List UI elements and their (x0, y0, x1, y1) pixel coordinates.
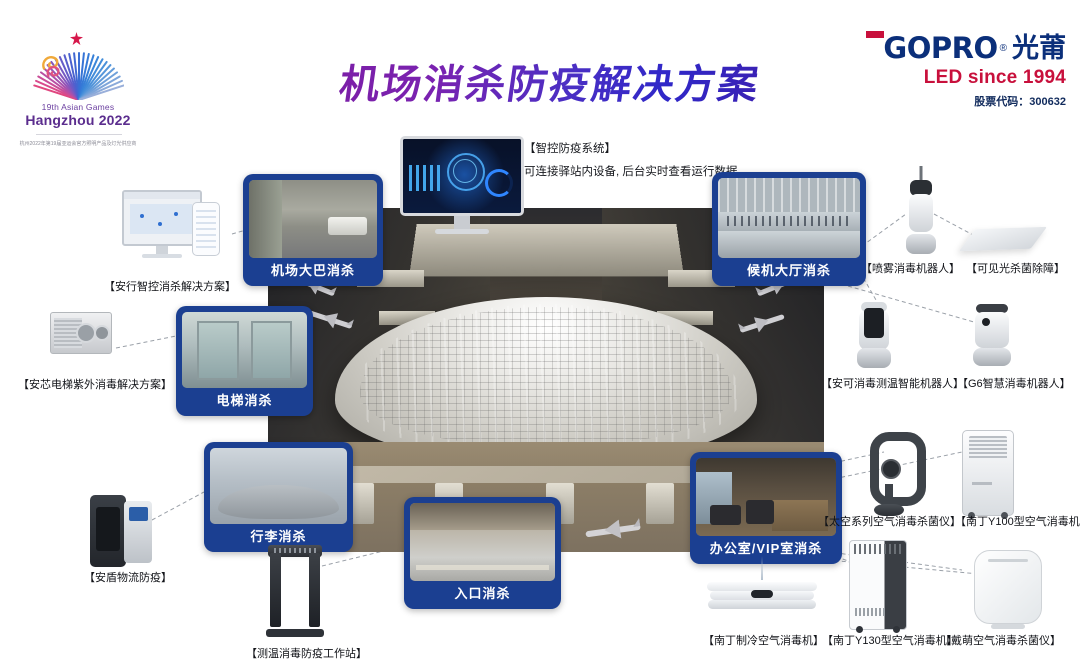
card-thumb-baggage (210, 448, 347, 524)
spray-robot-body (904, 176, 938, 254)
card-label-entrance: 入口消杀 (410, 581, 555, 607)
device-temp-station (268, 545, 322, 637)
page-title: 机场消杀防疫解决方案 (300, 52, 800, 110)
card-entrance[interactable]: 入口消杀 (404, 497, 561, 609)
star-icon (70, 32, 83, 45)
device-label-nanding-y130: 【南丁Y130型空气消毒机】 (822, 632, 958, 648)
brand-tagline: LED since 1994 (866, 67, 1066, 89)
brand-stock-code: 股票代码：300632 (866, 93, 1066, 109)
asian-games-fine-print: 杭州2022年第19届亚运会官方照明产品及灯光供应商 (14, 141, 142, 148)
device-g6-robot (972, 304, 1012, 366)
anke-robot-body (856, 302, 892, 368)
device-daimeng-purifier (974, 550, 1042, 624)
card-waiting-hall[interactable]: 候机大厅消杀 (712, 172, 866, 286)
card-thumb-airport-bus (249, 180, 377, 258)
brand-block: GOPRO ® 光莆 LED since 1994 股票代码：300632 (866, 34, 1066, 109)
device-andun-logistics (90, 495, 152, 567)
card-office-vip[interactable]: 办公室/VIP室消杀 (690, 452, 842, 564)
cooling-air-disinfector (707, 578, 817, 612)
console-phone (192, 202, 220, 256)
console-monitor (122, 190, 202, 246)
device-label-temp-station: 【测温消毒防疫工作站】 (246, 645, 367, 661)
swirl-emblem (38, 52, 68, 82)
card-thumb-elevator (182, 312, 307, 388)
device-anxing-console (122, 190, 202, 246)
device-space-series (868, 432, 910, 516)
device-label-andun-logistics: 【安盾物流防疫】 (84, 569, 172, 585)
device-label-nanding-y100: 【南丁Y100型空气消毒机】 (955, 513, 1080, 529)
device-label-spray-robot: 【喷雾消毒机器人】 (861, 260, 960, 276)
card-thumb-waiting-hall (718, 178, 860, 258)
dashboard-screen (400, 136, 524, 216)
device-label-daimeng-purifier: 【戴萌空气消毒杀菌仪】 (940, 632, 1061, 648)
device-nanding-y100 (962, 430, 1014, 516)
device-label-anke-temp-robot: 【安可消毒测温智能机器人】 (821, 375, 964, 391)
asian-games-line1: 19th Asian Games (14, 102, 142, 112)
divider (36, 134, 122, 135)
air-disinfector-y130 (849, 540, 907, 630)
temperature-screening-gate (268, 545, 322, 637)
wall-air-purifier (974, 550, 1042, 624)
brand-name: GOPRO (883, 34, 997, 63)
device-label-visible-light-uv: 【可见光杀菌除障】 (966, 260, 1065, 276)
card-thumb-office-vip (696, 458, 836, 536)
logistics-disinfect-cabinet (90, 495, 152, 567)
asian-games-logo: 19th Asian Games Hangzhou 2022 杭州2022年第1… (14, 28, 142, 160)
brand-name-cn: 光莆 (1012, 35, 1066, 62)
card-thumb-entrance (410, 503, 555, 581)
page-title-text: 机场消杀防疫解决方案 (336, 52, 764, 110)
device-label-space-series: 【太空系列空气消毒杀菌仪】 (818, 513, 961, 529)
system-note-desc: 可连接驿站内设备, 后台实时查看运行数据 (524, 163, 737, 179)
g6-robot-body (972, 304, 1012, 366)
device-spray-robot (904, 176, 938, 254)
device-nanding-y130 (849, 540, 907, 630)
card-airport-bus[interactable]: 机场大巴消杀 (243, 174, 383, 286)
device-label-g6-robot: 【G6智慧消毒机器人】 (957, 375, 1071, 391)
device-visible-light-uv (968, 228, 1038, 250)
card-elevator[interactable]: 电梯消杀 (176, 306, 313, 416)
card-label-airport-bus: 机场大巴消杀 (249, 258, 377, 284)
device-smart-control-monitor (400, 136, 524, 216)
device-nanding-cooling (707, 578, 817, 612)
poster-canvas: 19th Asian Games Hangzhou 2022 杭州2022年第1… (0, 0, 1080, 667)
system-note-title: 【智控防疫系统】 (524, 140, 616, 156)
card-baggage[interactable]: 行李消杀 (204, 442, 353, 552)
card-label-waiting-hall: 候机大厅消杀 (718, 258, 860, 284)
device-anke-temp-robot (856, 302, 892, 368)
device-label-anxing-console: 【安行智控消杀解决方案】 (104, 278, 236, 294)
device-anxin-elevator-uv (50, 312, 112, 354)
card-label-elevator: 电梯消杀 (182, 388, 307, 414)
card-label-office-vip: 办公室/VIP室消杀 (696, 536, 836, 562)
device-label-nanding-cooling: 【南丁制冷空气消毒机】 (703, 632, 824, 648)
uv-disinfect-box (50, 312, 112, 354)
uv-light-panel (959, 227, 1047, 251)
registered-mark-icon: ® (1000, 44, 1007, 54)
air-disinfector-y100 (962, 430, 1014, 516)
bladeless-fan-purifier (868, 432, 910, 516)
asian-games-line2: Hangzhou 2022 (14, 112, 142, 128)
device-label-anxin-elevator-uv: 【安芯电梯紫外消毒解决方案】 (18, 376, 172, 392)
brand-flag-icon (866, 31, 884, 38)
